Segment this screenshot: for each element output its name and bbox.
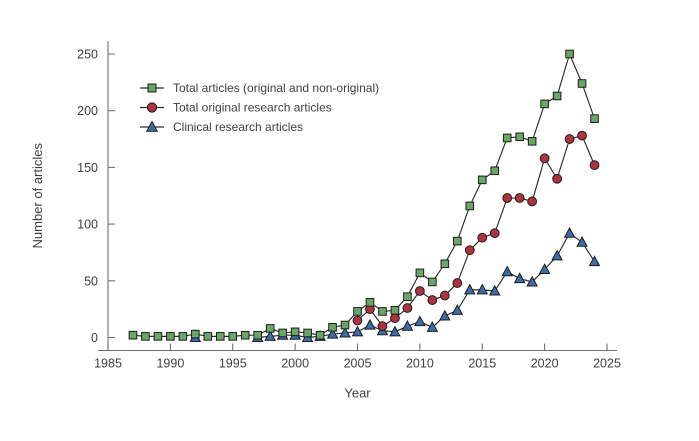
line-chart: 0501001502002501985199019952000200520102… (0, 0, 699, 441)
data-point-circle (565, 135, 574, 144)
data-point-square (578, 80, 586, 88)
data-point-circle (353, 316, 362, 325)
data-point-square (541, 100, 549, 108)
data-point-circle (391, 314, 400, 323)
x-axis-title: Year (344, 386, 371, 401)
axis-labels: YearNumber of articles (30, 143, 371, 401)
data-point-triangle (590, 256, 600, 265)
data-point-square (478, 176, 486, 184)
x-tick-label: 1995 (219, 357, 247, 371)
data-point-square (466, 202, 474, 210)
data-point-square (142, 333, 150, 341)
legend-item[interactable]: Total articles (original and non-origina… (140, 81, 379, 95)
data-point-square (304, 329, 312, 337)
legend-item[interactable]: Clinical research articles (140, 120, 303, 134)
data-point-square (404, 293, 412, 301)
data-point-square (179, 333, 187, 341)
y-tick-label: 150 (77, 161, 98, 175)
data-point-circle (540, 154, 549, 163)
y-tick-label: 0 (91, 331, 98, 345)
data-point-triangle (402, 321, 412, 330)
data-point-circle (403, 304, 412, 313)
y-tick-label: 100 (77, 218, 98, 232)
x-tick-label: 2000 (281, 357, 309, 371)
series-line (133, 54, 595, 336)
legend-item[interactable]: Total original research articles (140, 101, 332, 115)
data-point-square (291, 328, 299, 336)
data-point-circle (490, 229, 499, 238)
data-point-triangle (353, 327, 363, 336)
data-point-square (454, 237, 462, 245)
chart-figure: 0501001502002501985199019952000200520102… (0, 0, 699, 441)
data-point-circle (553, 174, 562, 183)
data-point-triangle (577, 237, 587, 246)
data-point-triangle (415, 316, 425, 325)
legend-marker-triangle (147, 122, 157, 132)
data-point-square (591, 115, 599, 123)
data-point-circle (515, 194, 524, 203)
legend-item-label: Clinical research articles (173, 120, 303, 134)
data-point-circle (440, 291, 449, 300)
data-point-square (254, 331, 262, 339)
data-point-square (354, 308, 362, 316)
y-tick-label: 200 (77, 104, 98, 118)
data-point-square (316, 331, 324, 339)
data-point-square (266, 325, 274, 333)
data-point-square (241, 331, 249, 339)
data-point-square (491, 167, 499, 175)
data-point-triangle (440, 311, 450, 320)
data-point-circle (415, 287, 424, 296)
data-point-square (329, 323, 337, 331)
legend-marker-circle (147, 103, 156, 112)
data-point-triangle (515, 273, 525, 282)
data-point-square (341, 321, 349, 329)
data-point-square (229, 333, 237, 341)
data-point-square (553, 92, 561, 100)
data-point-circle (528, 197, 537, 206)
data-point-circle (503, 194, 512, 203)
data-point-square (528, 138, 536, 146)
chart-legend: Total articles (original and non-origina… (140, 81, 379, 134)
data-point-triangle (502, 267, 512, 276)
x-tick-label: 1990 (156, 357, 184, 371)
data-point-circle (590, 161, 599, 170)
data-point-square (391, 306, 399, 314)
data-point-circle (578, 131, 587, 140)
data-point-square (129, 331, 137, 339)
data-point-square (154, 333, 162, 341)
data-point-square (566, 50, 574, 58)
x-tick-label: 2025 (593, 357, 621, 371)
x-tick-label: 1985 (94, 357, 122, 371)
data-point-square (216, 333, 224, 341)
series-line (358, 136, 595, 327)
data-point-square (429, 278, 437, 286)
data-point-triangle (452, 305, 462, 314)
legend-item-label: Total articles (original and non-origina… (173, 81, 379, 95)
series-circle (353, 131, 599, 330)
data-point-square (204, 333, 212, 341)
series-triangle (190, 228, 599, 342)
data-point-square (167, 333, 175, 341)
data-point-square (441, 260, 449, 268)
legend-marker-square (148, 84, 156, 92)
x-tick-label: 2005 (344, 357, 372, 371)
x-tick-label: 2015 (468, 357, 496, 371)
series-line (258, 233, 595, 337)
data-point-square (192, 330, 200, 338)
data-point-circle (478, 233, 487, 242)
data-point-circle (465, 246, 474, 255)
y-tick-label: 50 (84, 274, 98, 288)
data-point-triangle (365, 320, 375, 329)
data-point-triangle (565, 228, 575, 237)
data-point-square (379, 308, 387, 316)
data-point-circle (453, 279, 462, 288)
data-point-square (516, 133, 524, 141)
data-point-square (416, 269, 424, 277)
y-axis-title: Number of articles (30, 143, 45, 249)
data-point-circle (378, 322, 387, 331)
data-point-circle (428, 296, 437, 305)
legend-item-label: Total original research articles (173, 101, 332, 115)
y-tick-label: 250 (77, 48, 98, 62)
data-point-square (503, 134, 511, 142)
x-tick-label: 2020 (531, 357, 559, 371)
x-tick-label: 2010 (406, 357, 434, 371)
data-point-square (279, 329, 287, 337)
data-point-square (366, 299, 374, 307)
data-point-triangle (552, 251, 562, 260)
